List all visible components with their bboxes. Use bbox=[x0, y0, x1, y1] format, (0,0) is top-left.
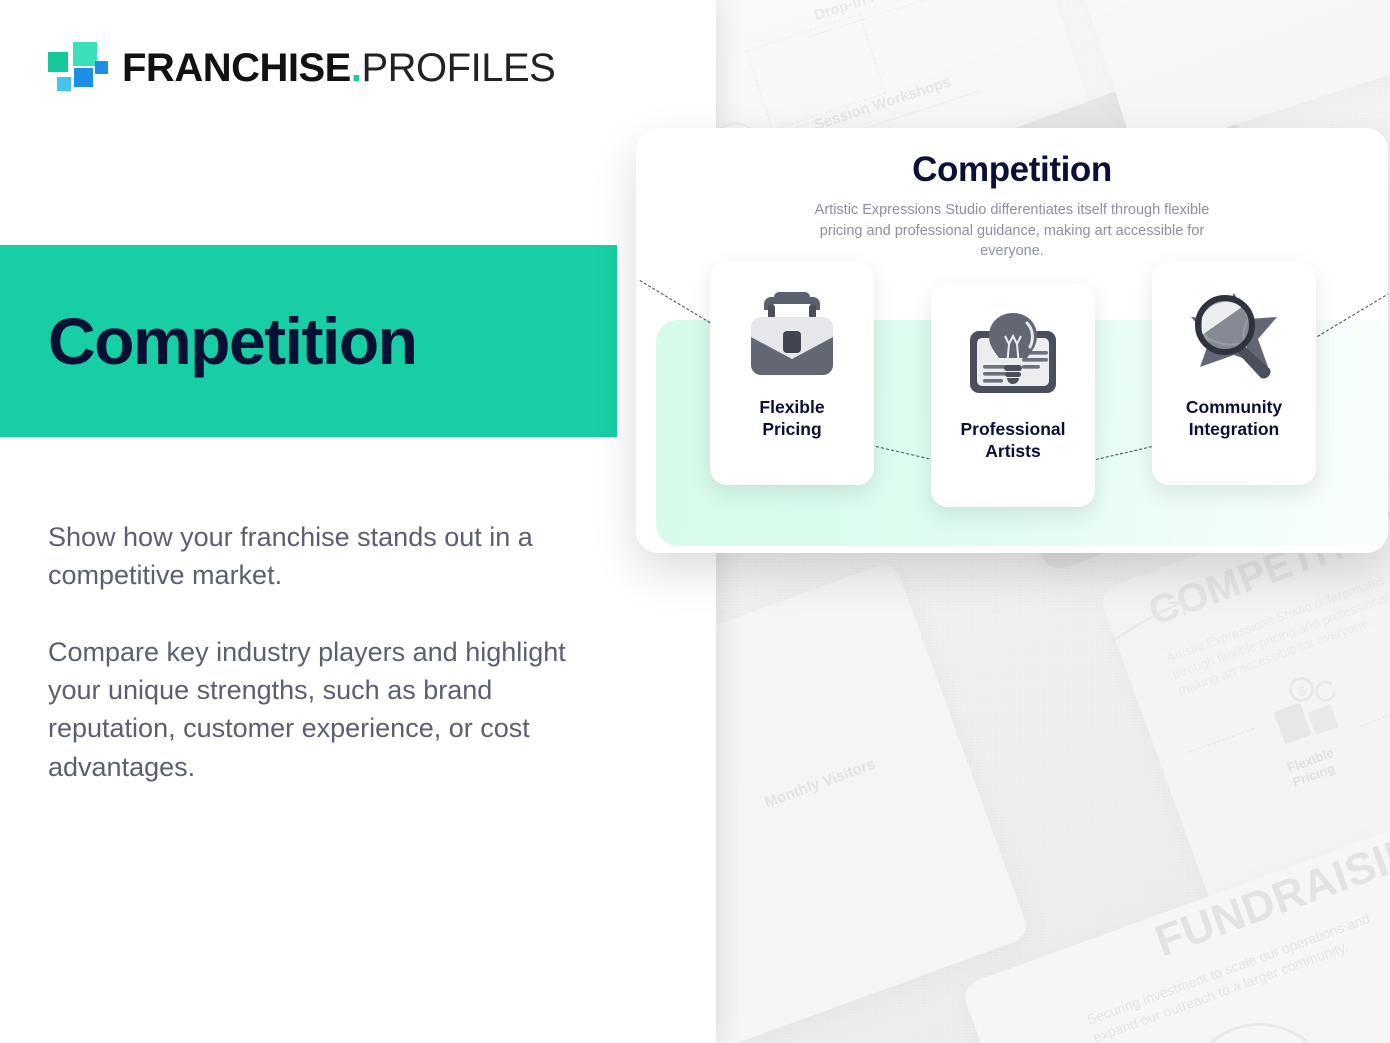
star-magnifier-icon bbox=[1180, 283, 1288, 391]
brand-logo: FRANCHISE.PROFILES bbox=[48, 40, 555, 96]
description-block: Show how your franchise stands out in a … bbox=[48, 518, 618, 786]
feature-card-professional-artists[interactable]: Professional Artists bbox=[931, 283, 1095, 507]
left-panel: FRANCHISE.PROFILES Competition Show how … bbox=[0, 0, 716, 1043]
slide-preview-card[interactable]: Competition Artistic Expressions Studio … bbox=[636, 128, 1388, 553]
description-paragraph-1: Show how your franchise stands out in a … bbox=[48, 518, 618, 595]
feature-label: Flexible Pricing bbox=[759, 397, 824, 440]
slide-subtitle: Artistic Expressions Studio differentiat… bbox=[812, 200, 1212, 262]
bg-coins-icon: $ bbox=[1260, 668, 1350, 759]
feature-card-community-integration[interactable]: Community Integration bbox=[1152, 261, 1316, 485]
briefcase-icon bbox=[738, 283, 846, 391]
description-paragraph-2: Compare key industry players and highlig… bbox=[48, 633, 618, 786]
slide-title: Competition bbox=[636, 150, 1388, 190]
brand-name-light: PROFILES bbox=[361, 46, 555, 90]
page-title: Competition bbox=[48, 303, 416, 379]
bg-dash-connector bbox=[1188, 728, 1254, 753]
brand-name-bold: FRANCHISE bbox=[122, 46, 351, 90]
lightbulb-document-icon bbox=[958, 305, 1068, 413]
slide-canvas: $ Drop-in Fees Session Workshops Commiss… bbox=[0, 0, 1390, 1043]
svg-text:$: $ bbox=[1296, 682, 1309, 699]
bg-stat-label-0: Monthly Visitors bbox=[762, 756, 877, 812]
bg-arrow-icon bbox=[1107, 590, 1197, 655]
feature-label: Community Integration bbox=[1186, 397, 1282, 440]
brand-name-dot: . bbox=[351, 46, 362, 90]
section-title-band: Competition bbox=[0, 245, 617, 437]
bg-card-subtitle bbox=[1131, 0, 1390, 29]
brand-name: FRANCHISE.PROFILES bbox=[122, 46, 555, 91]
bg-dash-connector bbox=[1359, 708, 1390, 727]
feature-label: Professional Artists bbox=[960, 419, 1065, 462]
squares-logo-icon bbox=[48, 40, 104, 96]
feature-card-flexible-pricing[interactable]: Flexible Pricing bbox=[710, 261, 874, 485]
